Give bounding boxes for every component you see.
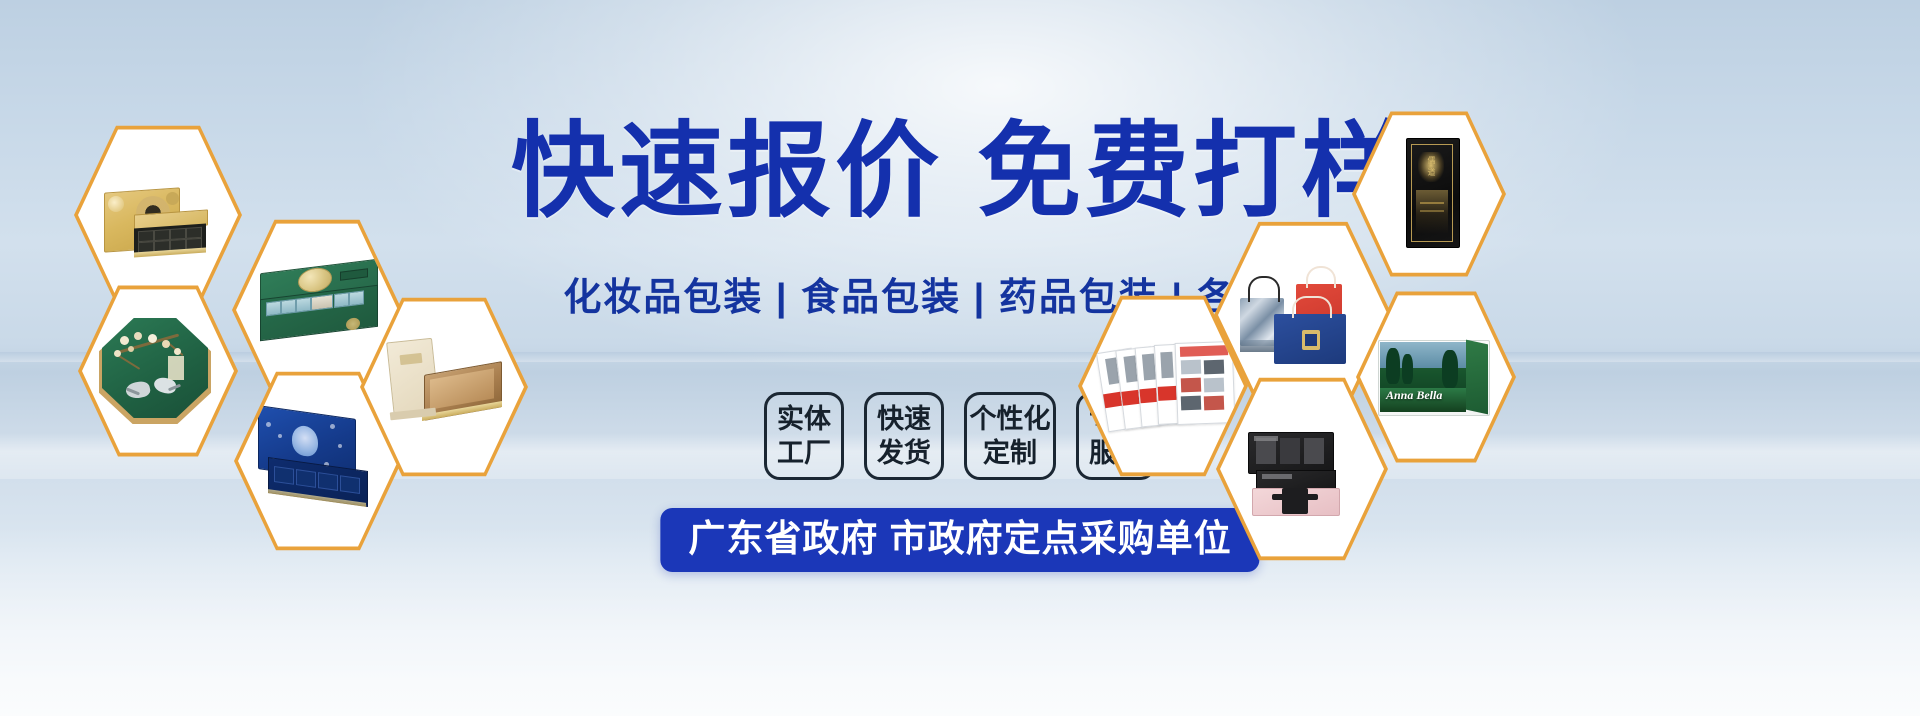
banner-center-content: 快速报价免费打样 化妆品包装 | 食品包装 | 药品包装 | 各类彩盒 实体 工… (0, 0, 1920, 716)
promo-banner: 快速报价免费打样 化妆品包装 | 食品包装 | 药品包装 | 各类彩盒 实体 工… (0, 0, 1920, 716)
feature-badge-factory: 实体 工厂 (764, 392, 844, 480)
feature-badge-list: 实体 工厂 快速 发货 个性化 定制 专业 服务 (0, 392, 1920, 480)
headline-part-1: 快速报价 (511, 114, 943, 230)
headline-part-2: 免费打样 (977, 114, 1409, 230)
feature-badge-shipping-line1: 快速 (877, 402, 931, 436)
product-label-anna-bella: Anna Bella (1386, 388, 1460, 402)
feature-badge-custom-line2: 定制 (983, 436, 1037, 470)
government-procurement-bar: 广东省政府 市政府定点采购单位 (660, 508, 1259, 572)
feature-badge-shipping-line2: 发货 (877, 436, 931, 470)
feature-badge-factory-line2: 工厂 (777, 436, 831, 470)
subtitle: 化妆品包装 | 食品包装 | 药品包装 | 各类彩盒 (0, 276, 1920, 320)
headline: 快速报价免费打样 (0, 118, 1920, 226)
feature-badge-shipping: 快速 发货 (864, 392, 944, 480)
feature-badge-factory-line1: 实体 (777, 402, 831, 436)
feature-badge-custom-line1: 个性化 (970, 402, 1051, 436)
feature-badge-custom: 个性化 定制 (964, 392, 1056, 480)
